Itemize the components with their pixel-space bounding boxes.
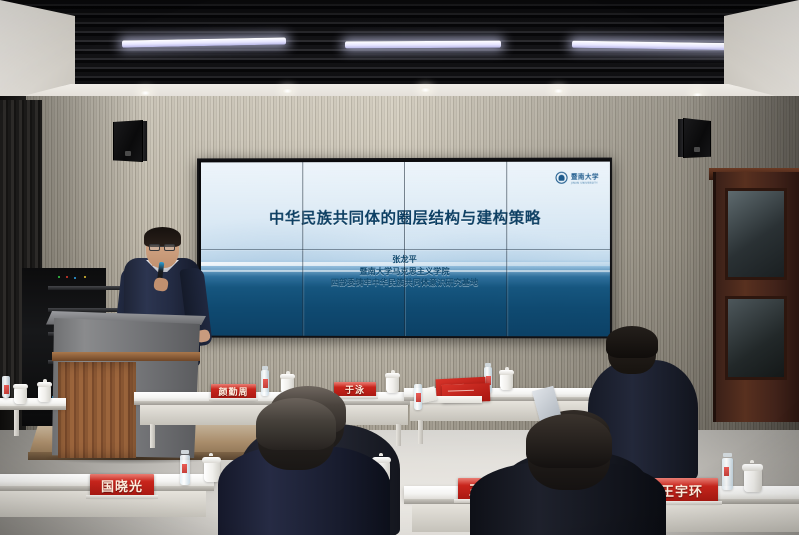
nameplate-1: 颜勤周 xyxy=(211,384,256,399)
rack-indicator-led xyxy=(66,276,68,278)
slide-affiliation-2: 四部委铸牢中华民族共同体意识研究基地 xyxy=(201,277,610,289)
table-leg xyxy=(418,420,423,444)
rack-indicator-led xyxy=(58,276,60,278)
bottle-cap xyxy=(723,453,732,457)
audience-hair xyxy=(526,414,612,468)
tea-cup-lid xyxy=(202,457,221,463)
nameplate-stand xyxy=(209,398,258,401)
nameplate-3: 国晓光 xyxy=(90,474,154,496)
tea-cup-lid xyxy=(37,382,52,387)
ceiling-light-2 xyxy=(345,41,501,49)
audience-hair xyxy=(256,398,336,450)
table-leg xyxy=(150,424,155,448)
tea-cup-knob xyxy=(750,460,754,463)
tea-cup-knob xyxy=(505,367,509,370)
water-bottle xyxy=(180,455,190,485)
water-bottle xyxy=(414,384,422,410)
tea-cup-knob xyxy=(379,453,383,456)
speaker-brand-badge xyxy=(125,151,131,156)
downlight-4 xyxy=(553,88,564,94)
downlight-2 xyxy=(282,88,293,94)
folder-print-line xyxy=(448,390,474,392)
audience-hair xyxy=(606,326,658,358)
presentation-slide: 暨南大学 JINAN UNIVERSITY 中华民族共同体的圈层结构与建构策略 … xyxy=(201,162,610,337)
tea-cup-knob xyxy=(43,379,47,382)
tea-cup xyxy=(38,386,51,402)
eyeglasses-right-lens-icon xyxy=(164,244,175,251)
led-video-wall[interactable]: 暨南大学 JINAN UNIVERSITY 中华民族共同体的圈层结构与建构策略 … xyxy=(197,158,612,339)
university-name-cn: 暨南大学 xyxy=(571,171,599,181)
university-name-en: JINAN UNIVERSITY xyxy=(571,182,599,185)
table-leg xyxy=(14,410,19,436)
nameplate-stand xyxy=(86,495,158,499)
tea-cup-lid xyxy=(742,464,763,471)
bottle-cap xyxy=(181,450,189,454)
tea-cup xyxy=(386,377,399,393)
conference-room-photo: 暨南大学 JINAN UNIVERSITY 中华民族共同体的圈层结构与建构策略 … xyxy=(0,0,799,535)
tea-cup-lid xyxy=(13,384,28,389)
crest-inner-shape xyxy=(559,175,565,181)
wall-speaker-left xyxy=(113,120,143,162)
panel-seam-h1 xyxy=(201,249,610,250)
tea-cup-lid xyxy=(499,370,514,375)
rack-indicator-led xyxy=(84,276,86,278)
cabinet-glass-door-upper xyxy=(725,188,787,280)
tea-cup xyxy=(744,470,762,492)
rack-shelf xyxy=(48,286,122,290)
tea-cup xyxy=(500,374,513,390)
tea-cup-knob xyxy=(209,453,213,456)
university-crest-icon xyxy=(556,172,568,184)
speaker-brand-badge xyxy=(694,147,700,152)
rack-indicator-led xyxy=(74,277,76,279)
tea-cup-lid xyxy=(385,373,400,378)
university-logo: 暨南大学 JINAN UNIVERSITY xyxy=(556,171,599,185)
wall-speaker-right xyxy=(683,118,711,158)
water-bottle xyxy=(2,376,10,398)
speaker-hand-holding-mic xyxy=(153,277,169,292)
slide-presenter-name: 张龙平 xyxy=(201,254,610,266)
downlight-3 xyxy=(420,87,431,93)
slide-title: 中华民族共同体的圈层结构与建构策略 xyxy=(201,206,610,228)
water-bottle xyxy=(261,370,269,396)
slide-subtitle-block: 张龙平 暨南大学马克思主义学院 四部委铸牢中华民族共同体意识研究基地 xyxy=(201,254,610,289)
tea-cup-knob xyxy=(286,371,290,374)
tea-cup-knob xyxy=(391,370,395,373)
podium-trim xyxy=(52,352,200,361)
tea-cup-lid xyxy=(280,374,295,379)
water-bottle xyxy=(722,458,733,490)
slide-affiliation-1: 暨南大学马克思主义学院 xyxy=(201,265,610,277)
table-leg xyxy=(396,424,401,446)
bottle-cap xyxy=(485,363,491,367)
table-far-left-edge xyxy=(0,406,66,410)
cabinet-glass-door-lower xyxy=(725,296,787,380)
nameplate-2: 于泳 xyxy=(334,382,376,397)
eyeglasses-bridge-icon xyxy=(159,246,165,247)
bottle-cap xyxy=(262,366,268,370)
tea-cup xyxy=(14,388,27,404)
podium-wood-panel xyxy=(58,362,136,458)
